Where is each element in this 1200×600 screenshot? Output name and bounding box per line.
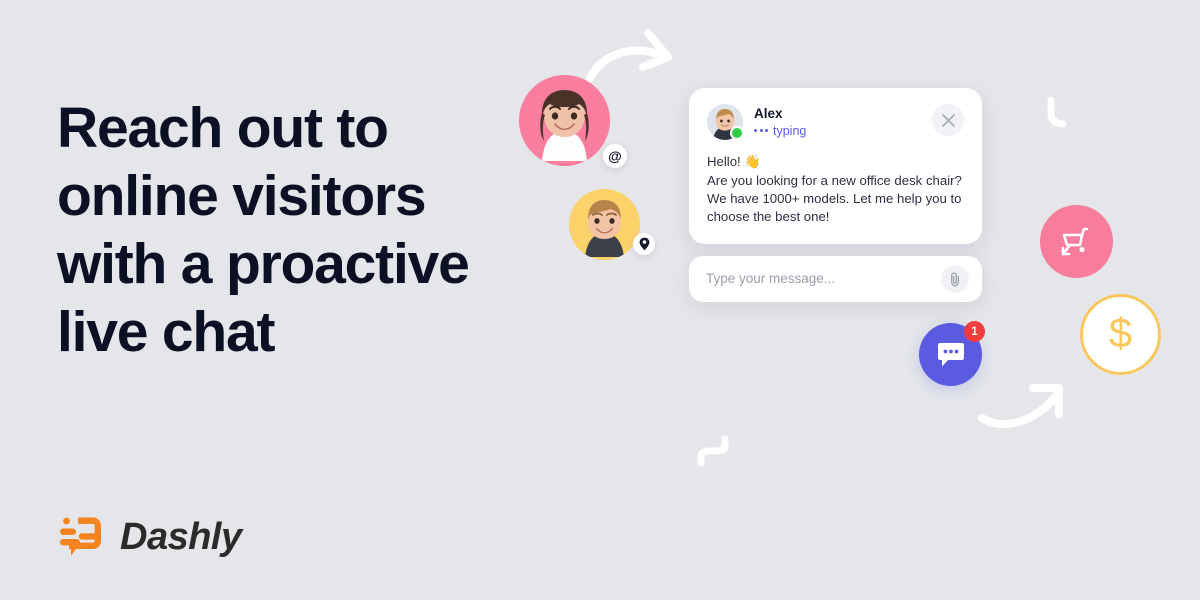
agent-meta: Alex typing	[754, 106, 806, 138]
dollar-glyph: $	[1109, 312, 1132, 354]
chat-widget-card: Alex typing Hello! 👋 Are you looking for…	[689, 88, 982, 244]
typing-label: typing	[773, 124, 806, 138]
chat-bubble-icon	[936, 341, 966, 369]
message-input-bar[interactable]: Type your message...	[689, 256, 982, 302]
typing-dots-icon	[754, 129, 768, 132]
attach-file-button[interactable]	[941, 265, 969, 293]
page-title: Reach out to online visitors with a proa…	[57, 94, 527, 366]
agent-avatar	[707, 104, 743, 140]
message-line-greeting: Hello! 👋	[707, 153, 964, 171]
marketing-banner: Reach out to online visitors with a proa…	[0, 0, 1200, 600]
visitor-avatar-woman	[519, 75, 610, 166]
message-line-body: Are you looking for a new office desk ch…	[707, 172, 964, 226]
curved-arrow-right-icon	[586, 26, 690, 84]
close-button[interactable]	[932, 104, 964, 136]
online-status-dot	[730, 126, 744, 140]
agent-message: Hello! 👋 Are you looking for a new offic…	[707, 153, 964, 226]
at-sign-icon: @	[603, 144, 627, 168]
map-pin-icon	[633, 233, 655, 255]
curved-arrow-up-right-icon	[978, 378, 1078, 433]
dashly-logo-mark	[56, 511, 108, 563]
at-sign-glyph: @	[608, 149, 622, 163]
chat-header: Alex typing	[707, 104, 964, 140]
shopping-cart-icon	[1040, 205, 1113, 278]
agent-name: Alex	[754, 106, 806, 122]
s-squiggle-icon	[696, 435, 730, 467]
unread-count-badge: 1	[964, 321, 985, 342]
brand-logo[interactable]: Dashly	[56, 511, 242, 563]
visitor-avatar-man	[569, 189, 640, 260]
chat-launcher-button[interactable]: 1	[919, 323, 982, 386]
paperclip-icon	[948, 271, 962, 287]
dollar-sign-icon: $	[1080, 294, 1161, 375]
close-icon	[942, 114, 955, 127]
brand-name: Dashly	[120, 518, 242, 556]
j-curve-icon	[1046, 97, 1072, 129]
message-input-placeholder[interactable]: Type your message...	[706, 272, 941, 286]
typing-indicator: typing	[754, 124, 806, 138]
